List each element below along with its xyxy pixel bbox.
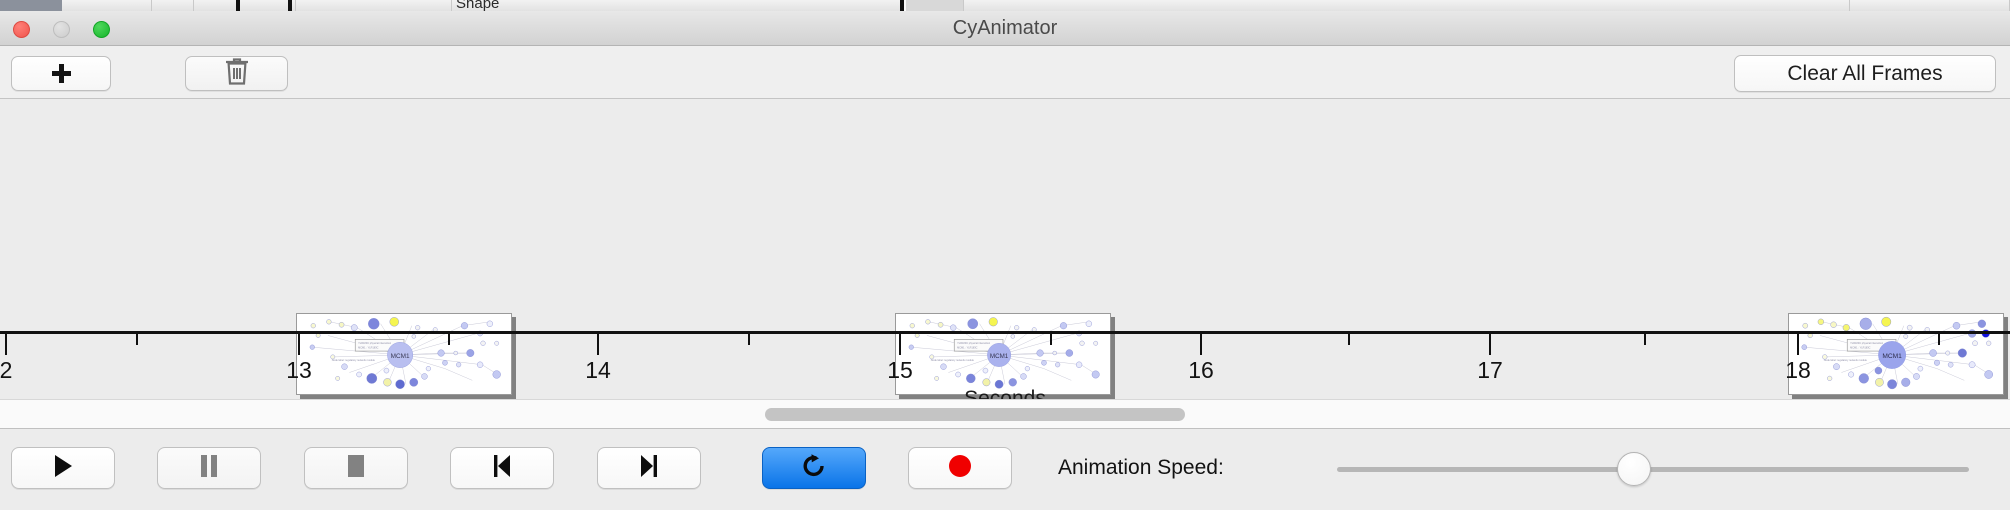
cyanimator-window: CyAnimator Clear All Frames	[0, 11, 2010, 510]
ruler-tick-major	[1797, 334, 1799, 355]
ruler-tick-minor	[448, 334, 450, 345]
clear-all-frames-label: Clear All Frames	[1787, 62, 1942, 86]
playback-controls: Animation Speed:	[0, 429, 2010, 507]
skip-to-end-icon	[638, 454, 660, 483]
pause-icon	[199, 454, 219, 483]
bg-tick	[236, 0, 240, 11]
delete-frame-button[interactable]	[185, 56, 288, 91]
timeline-ruler[interactable]: 2131415161718 Seconds	[0, 331, 2010, 399]
animation-speed-slider-handle[interactable]	[1617, 452, 1651, 486]
ruler-tick-label: 16	[1188, 357, 1214, 384]
ruler-tick-minor	[748, 334, 750, 345]
trash-icon	[224, 57, 250, 91]
loop-button[interactable]	[762, 447, 866, 489]
ruler-axis-line	[0, 331, 2010, 334]
record-icon	[947, 453, 973, 484]
ruler-tick-label: 13	[286, 357, 312, 384]
ruler-tick-minor	[1938, 334, 1940, 345]
bg-segment	[906, 0, 964, 11]
stop-button[interactable]	[304, 447, 408, 489]
bg-segment	[296, 0, 452, 11]
timeline-scrollbar[interactable]	[0, 399, 2010, 429]
background-window-strip: Shape	[0, 0, 2010, 11]
skip-to-end-button[interactable]	[597, 447, 701, 489]
ruler-tick-label: 15	[887, 357, 913, 384]
bg-segment	[0, 0, 62, 11]
timeline-panel[interactable]: YLR183C physical interaction MCM1 : YLR1…	[0, 99, 2010, 399]
ruler-tick-minor	[1644, 334, 1646, 345]
clear-all-frames-button[interactable]: Clear All Frames	[1734, 55, 1996, 92]
bg-segment	[452, 0, 902, 11]
bg-tick	[288, 0, 292, 11]
bg-tick	[900, 0, 904, 11]
bg-segment	[62, 0, 152, 11]
record-button[interactable]	[908, 447, 1012, 489]
play-button[interactable]	[11, 447, 115, 489]
window-title: CyAnimator	[0, 11, 2010, 46]
timeline-track[interactable]: YLR183C physical interaction MCM1 : YLR1…	[0, 99, 2010, 399]
ruler-tick-major	[1489, 334, 1491, 355]
animation-speed-slider-track[interactable]	[1337, 467, 1969, 472]
ruler-tick-label: 14	[585, 357, 611, 384]
bg-segment	[1850, 0, 2010, 11]
ruler-axis-title: Seconds	[0, 387, 2010, 399]
pause-button[interactable]	[157, 447, 261, 489]
ruler-tick-major	[597, 334, 599, 355]
bg-segment	[152, 0, 194, 11]
bg-segment	[194, 0, 240, 11]
ruler-tick-major	[899, 334, 901, 355]
ruler-tick-minor	[1050, 334, 1052, 345]
skip-to-start-button[interactable]	[450, 447, 554, 489]
bg-window-label: Shape	[456, 0, 499, 11]
toolbar: Clear All Frames	[0, 46, 2010, 99]
ruler-tick-minor	[136, 334, 138, 345]
play-icon	[52, 454, 74, 483]
ruler-tick-label: 2	[0, 357, 12, 384]
plus-icon	[52, 64, 71, 83]
timeline-scrollbar-thumb[interactable]	[765, 408, 1185, 421]
skip-to-start-icon	[491, 454, 513, 483]
add-frame-button[interactable]	[11, 56, 111, 91]
loop-icon	[801, 453, 827, 484]
ruler-tick-label: 17	[1477, 357, 1503, 384]
ruler-tick-major	[298, 334, 300, 355]
ruler-tick-label: 18	[1785, 357, 1811, 384]
titlebar: CyAnimator	[0, 11, 2010, 46]
ruler-tick-major	[5, 334, 7, 355]
animation-speed-label: Animation Speed:	[1058, 447, 1224, 489]
stop-icon	[345, 454, 367, 483]
ruler-tick-major	[1200, 334, 1202, 355]
bg-segment	[964, 0, 1850, 11]
ruler-tick-minor	[1348, 334, 1350, 345]
